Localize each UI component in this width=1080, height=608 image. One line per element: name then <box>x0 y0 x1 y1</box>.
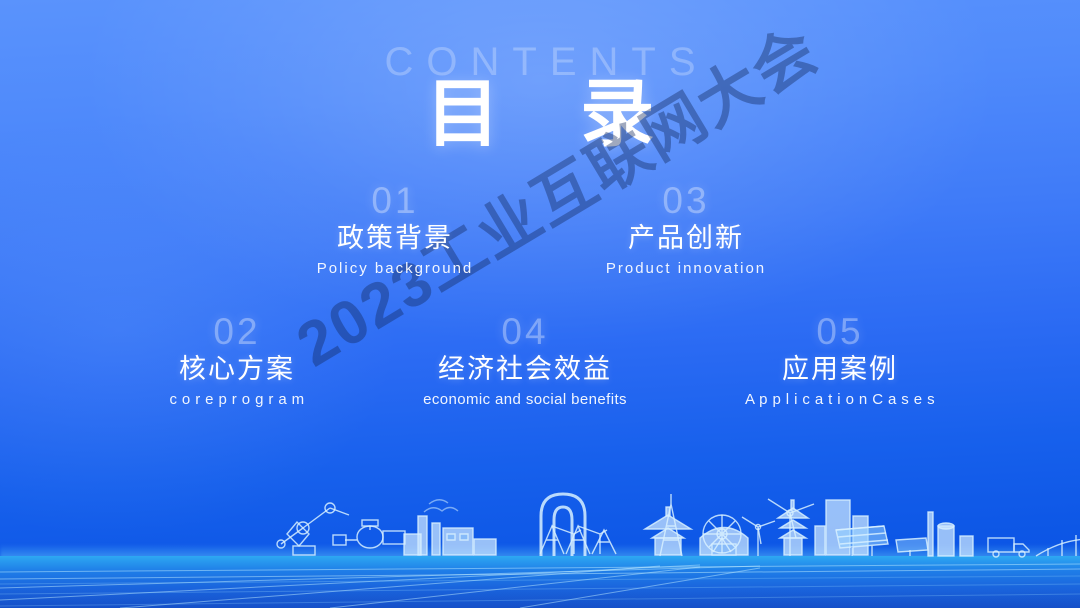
agenda-title: 政策背景 <box>245 221 545 256</box>
presentation-slide: CONTENTS 目 录 2023工业互联网大会 01 政策背景 Policy … <box>0 0 1080 608</box>
factory-smokestack-icon <box>404 516 496 555</box>
agenda-item-02[interactable]: 02 核心方案 c o r e p r o g r a m <box>87 313 387 410</box>
page-title: 目 录 <box>0 68 1080 161</box>
agenda-number: 04 <box>375 313 675 350</box>
horizon-glow <box>0 544 1080 570</box>
agenda-item-01[interactable]: 01 政策背景 Policy background <box>245 182 545 279</box>
agenda-item-03[interactable]: 03 产品创新 Product innovation <box>536 182 836 279</box>
wind-turbine-icon <box>742 499 814 556</box>
slide-header: CONTENTS 目 录 <box>0 42 1080 161</box>
left-light-glow <box>0 120 400 540</box>
factory-smoke-icon <box>424 500 458 512</box>
broadcast-tower-icon <box>660 494 682 556</box>
agenda-item-04[interactable]: 04 经济社会效益 economic and social benefits <box>375 313 675 410</box>
robot-arm-icon <box>277 503 349 555</box>
storage-tank-icon <box>928 512 973 556</box>
bridge-icon <box>1036 533 1080 556</box>
oil-pumpjack-icon <box>540 526 616 554</box>
agenda-title: 核心方案 <box>87 352 387 387</box>
agenda-subtitle: Policy background <box>245 259 545 279</box>
cargo-truck-icon <box>988 538 1029 557</box>
agenda-number: 01 <box>245 182 545 219</box>
agenda-subtitle: economic and social benefits <box>375 390 675 410</box>
solar-panel-icon <box>836 526 928 556</box>
ferris-wheel-icon <box>703 515 741 553</box>
ground-plane <box>0 556 1080 608</box>
industrial-valve-icon <box>333 520 405 548</box>
agenda-subtitle: c o r e p r o g r a m <box>87 390 387 410</box>
top-light-glow <box>90 0 990 340</box>
agenda-item-05[interactable]: 05 应用案例 A p p l i c a t i o n C a s e s <box>690 313 990 410</box>
arena-dome-icon <box>700 528 748 556</box>
agenda-subtitle: A p p l i c a t i o n C a s e s <box>690 390 990 410</box>
pagoda-icon <box>778 500 808 555</box>
agenda-number: 03 <box>536 182 836 219</box>
agenda-number: 02 <box>87 313 387 350</box>
diagonal-watermark: 2023工业互联网大会 <box>277 1 832 384</box>
agenda-title: 经济社会效益 <box>375 352 675 387</box>
chinese-pavilion-icon <box>645 507 691 555</box>
agenda-number: 05 <box>690 313 990 350</box>
agenda-subtitle: Product innovation <box>536 259 836 279</box>
agenda-title: 应用案例 <box>690 352 990 387</box>
industrial-city-skyline <box>0 482 1080 564</box>
agenda-title: 产品创新 <box>536 221 836 256</box>
contents-overline: CONTENTS <box>0 42 1080 82</box>
gate-of-the-orient-icon <box>541 494 585 556</box>
perspective-grid <box>0 554 1080 608</box>
skyscraper-icon <box>815 500 868 555</box>
bottom-scene <box>0 488 1080 608</box>
